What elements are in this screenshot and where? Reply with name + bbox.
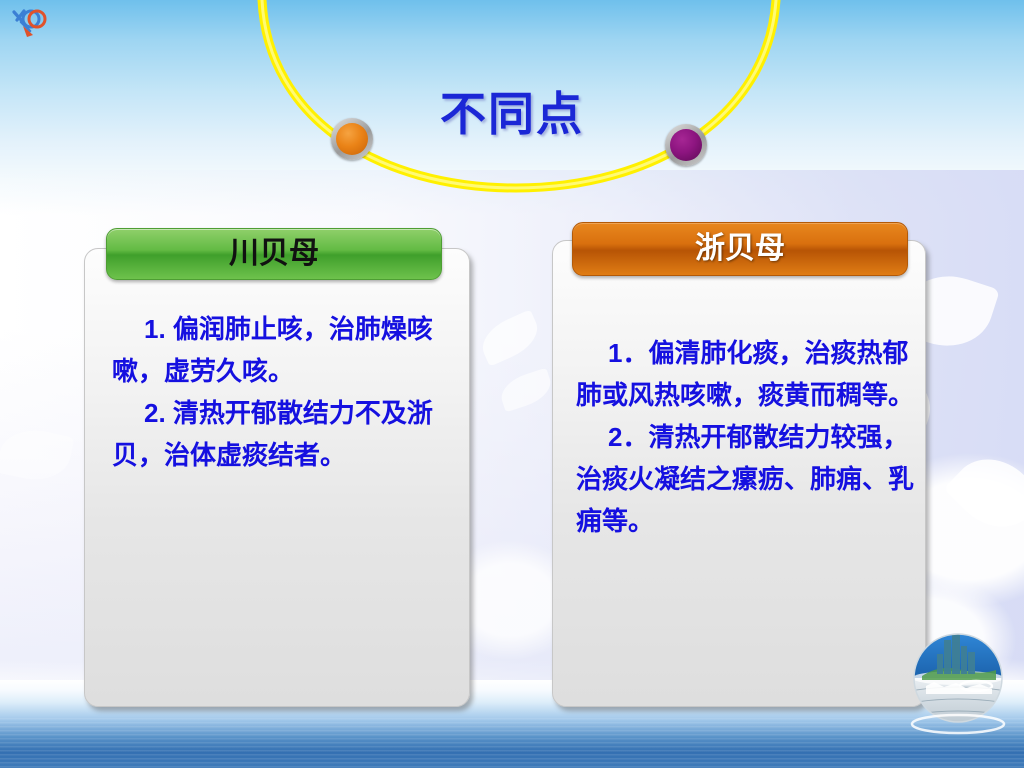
card-right-header: 浙贝母 <box>572 222 908 276</box>
card-left-body: 1. 偏润肺止咳，治肺燥咳嗽，虚劳久咳。 2. 清热开郁散结力不及浙贝，治体虚痰… <box>112 308 442 476</box>
card-left-paragraph-1: 1. 偏润肺止咳，治肺燥咳嗽，虚劳久咳。 <box>112 308 442 392</box>
slide-canvas: 不同点 川贝母 1. 偏润肺止咳，治肺燥咳嗽，虚劳久咳。 2. 清热开郁散结力不… <box>0 0 1024 768</box>
card-right-paragraph-2: 2．清热开郁散结力较强，治痰火凝结之瘰疬、肺痈、乳痈等。 <box>576 416 916 542</box>
card-left-header: 川贝母 <box>106 228 442 280</box>
globe-city-icon <box>900 620 1016 736</box>
card-left-paragraph-2: 2. 清热开郁散结力不及浙贝，治体虚痰结者。 <box>112 392 442 476</box>
sea-shimmer <box>0 718 1024 768</box>
card-right-paragraph-1: 1．偏清肺化痰，治痰热郁肺或风热咳嗽，痰黄而稠等。 <box>576 332 916 416</box>
page-title: 不同点 <box>0 78 1024 144</box>
card-right-body: 1．偏清肺化痰，治痰热郁肺或风热咳嗽，痰黄而稠等。 2．清热开郁散结力较强，治痰… <box>576 332 916 542</box>
